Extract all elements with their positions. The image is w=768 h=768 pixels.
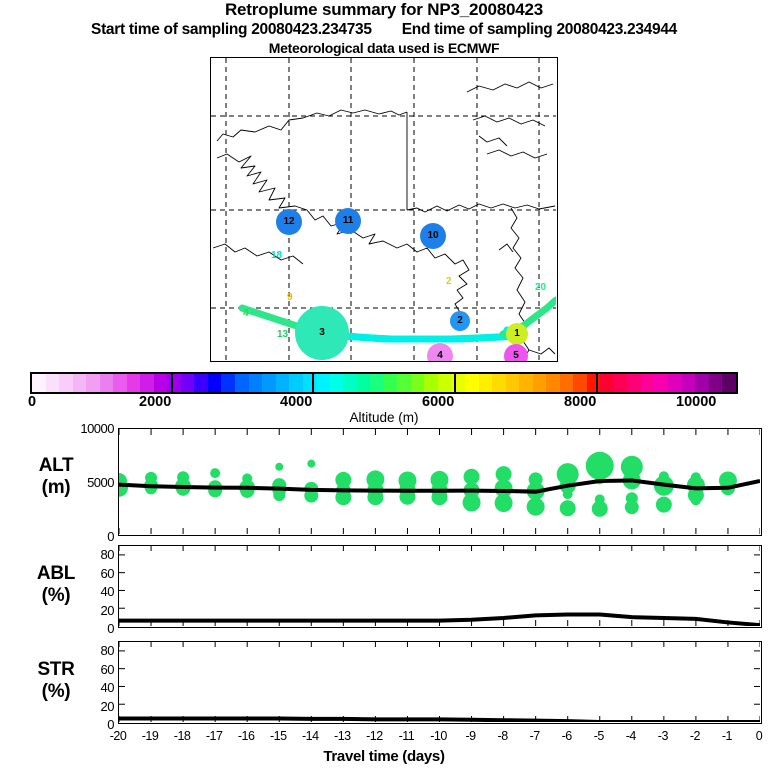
alt-label-line1: ALT [8,455,104,477]
xtick--17: -17 [198,730,230,743]
plume-marker-1-1: 1 [506,323,528,345]
alt-bubble-18 [307,460,315,468]
xtick--4: -4 [615,730,647,743]
plume-marker-13-16: 13 [277,330,288,340]
xtick--9: -9 [455,730,487,743]
colorbar-segment-34 [492,374,506,392]
abl-ytick-80: 80 [66,548,114,561]
alt-bubble-35 [463,494,481,512]
colorbar-tick-4000: 4000 [280,394,312,410]
map-graticule-and-coastline [211,58,556,360]
colorbar-segment-10 [167,374,181,392]
alt-bubble-38 [495,494,513,512]
colorbar-segment-36 [519,374,533,392]
plume-marker-20-0: 20 [535,283,546,293]
colorbar-segment-50 [709,374,723,392]
plume-marker-4-4: 4 [243,309,249,319]
colorbar-segment-32 [465,374,479,392]
alt-bubble-49 [592,501,608,517]
colorbar-segment-17 [262,374,276,392]
altitude-colorbar [30,372,738,394]
str-label-line2: (%) [8,681,104,703]
abl-panel[interactable] [118,545,762,628]
colorbar-segment-6 [113,374,127,392]
plume-marker-2-11: 2 [446,277,452,287]
alt-label-line2: (m) [8,477,104,499]
xtick--18: -18 [166,730,198,743]
alt-plot-area [119,429,760,534]
colorbar-segment-45 [641,374,655,392]
alt-panel[interactable] [118,428,762,536]
colorbar-segment-43 [614,374,628,392]
xtick--3: -3 [647,730,679,743]
colorbar-segment-19 [289,374,303,392]
colorbar-segment-11 [181,374,195,392]
colorbar-segment-48 [682,374,696,392]
str-ytick-0: 0 [66,718,114,731]
abl-plot-area [119,546,760,626]
colorbar-divider [596,372,598,394]
plume-marker-5-6: 5 [504,344,528,362]
str-panel[interactable] [118,641,762,724]
page-title: Retroplume summary for NP3_20080423 [0,0,768,20]
plume-marker-3-3: 3 [295,306,349,360]
colorbar-segment-3 [73,374,87,392]
colorbar-segment-39 [560,374,574,392]
colorbar-divider [454,372,456,394]
xtick--12: -12 [358,730,390,743]
xtick--5: -5 [583,730,615,743]
xtick--10: -10 [423,730,455,743]
xtick--8: -8 [487,730,519,743]
xtick-0: 0 [743,730,768,743]
colorbar-segment-46 [654,374,668,392]
abl-label-line2: (%) [8,585,104,607]
start-time-label: Start time of sampling 20080423.234735 [91,20,372,39]
colorbar-segment-2 [59,374,73,392]
colorbar-segment-0 [32,374,46,392]
xtick--7: -7 [519,730,551,743]
xtick--15: -15 [262,730,294,743]
colorbar-segment-30 [438,374,452,392]
str-label-line1: STR [8,659,104,681]
xtick--14: -14 [294,730,326,743]
colorbar-segment-13 [208,374,222,392]
colorbar-caption: Altitude (m) [0,410,768,426]
alt-bubble-17 [273,489,285,501]
colorbar-segment-49 [695,374,709,392]
plume-marker-12-15: 12 [276,209,302,235]
colorbar-tick-6000: 6000 [422,394,454,410]
colorbar-segment-4 [86,374,100,392]
colorbar-segment-28 [411,374,425,392]
xtick--2: -2 [679,730,711,743]
plume-marker-11-14: 11 [335,208,361,234]
alt-ytick-0: 0 [58,530,114,543]
colorbar-segment-23 [343,374,357,392]
xtick--6: -6 [551,730,583,743]
colorbar-segment-33 [479,374,493,392]
plume-marker-9-10: 9 [287,293,293,303]
colorbar-segment-42 [600,374,614,392]
colorbar-segment-38 [546,374,560,392]
alt-bubble-8 [210,468,220,478]
alt-bubble-45 [560,500,576,516]
colorbar-segment-51 [722,374,736,392]
colorbar-segment-9 [154,374,168,392]
colorbar-divider [312,372,314,394]
colorbar-divider [171,372,173,394]
alt-bubble-14 [275,463,283,471]
colorbar-segment-8 [140,374,154,392]
alt-bubble-44 [563,489,573,499]
sampling-time-row: Start time of sampling 20080423.234735 E… [0,20,768,39]
retroplume-map[interactable]: 20123445689923101112131854 [210,57,558,362]
colorbar-segment-26 [384,374,398,392]
alt-bubble-56 [656,497,672,513]
colorbar-segment-15 [235,374,249,392]
colorbar-segment-20 [303,374,317,392]
xtick--16: -16 [230,730,262,743]
colorbar-segment-40 [573,374,587,392]
alt-bubble-53 [625,500,639,514]
abl-axis-label: ABL (%) [8,563,104,607]
abl-ytick-0: 0 [66,622,114,635]
colorbar-segment-18 [276,374,290,392]
colorbar-tick-10000: 10000 [676,394,716,410]
xtick--11: -11 [390,730,422,743]
colorbar-segment-37 [533,374,547,392]
plume-marker-18-17: 18 [271,251,282,261]
xtick--1: -1 [711,730,743,743]
colorbar-segment-27 [397,374,411,392]
title-block: Retroplume summary for NP3_20080423 Star… [0,0,768,57]
plume-marker-4-5: 4 [427,343,453,362]
colorbar-segment-41 [587,374,601,392]
xtick--19: -19 [134,730,166,743]
str-ytick-80: 80 [66,644,114,657]
alt-bubble-33 [464,469,480,485]
colorbar-segment-29 [424,374,438,392]
alt-axis-label: ALT (m) [8,455,104,499]
abl-label-line1: ABL [8,563,104,585]
colorbar-tick-8000: 8000 [564,394,596,410]
colorbar-segment-25 [370,374,384,392]
xtick--20: -20 [102,730,134,743]
xtick--13: -13 [326,730,358,743]
colorbar-segment-16 [249,374,263,392]
colorbar-segment-24 [357,374,371,392]
colorbar-segment-1 [46,374,60,392]
alt-bubble-41 [527,498,545,516]
colorbar-segment-22 [330,374,344,392]
colorbar-segment-7 [127,374,141,392]
str-plot-area [119,642,760,722]
end-time-label: End time of sampling 20080423.234944 [402,20,677,39]
colorbar-tick-2000: 2000 [139,394,171,410]
colorbar-tick-0: 0 [28,394,36,410]
plume-marker-10-13: 10 [420,223,446,249]
colorbar-segment-5 [100,374,114,392]
alt-bubble-60 [691,495,701,505]
str-axis-label: STR (%) [8,659,104,703]
x-axis-title: Travel time (days) [0,748,768,765]
colorbar-segment-14 [221,374,235,392]
colorbar-segment-21 [316,374,330,392]
colorbar-segment-35 [506,374,520,392]
plume-marker-2-2: 2 [450,311,470,331]
colorbar-segment-12 [194,374,208,392]
met-data-label: Meteorological data used is ECMWF [0,39,768,57]
colorbar-segment-44 [627,374,641,392]
colorbar-segment-47 [668,374,682,392]
